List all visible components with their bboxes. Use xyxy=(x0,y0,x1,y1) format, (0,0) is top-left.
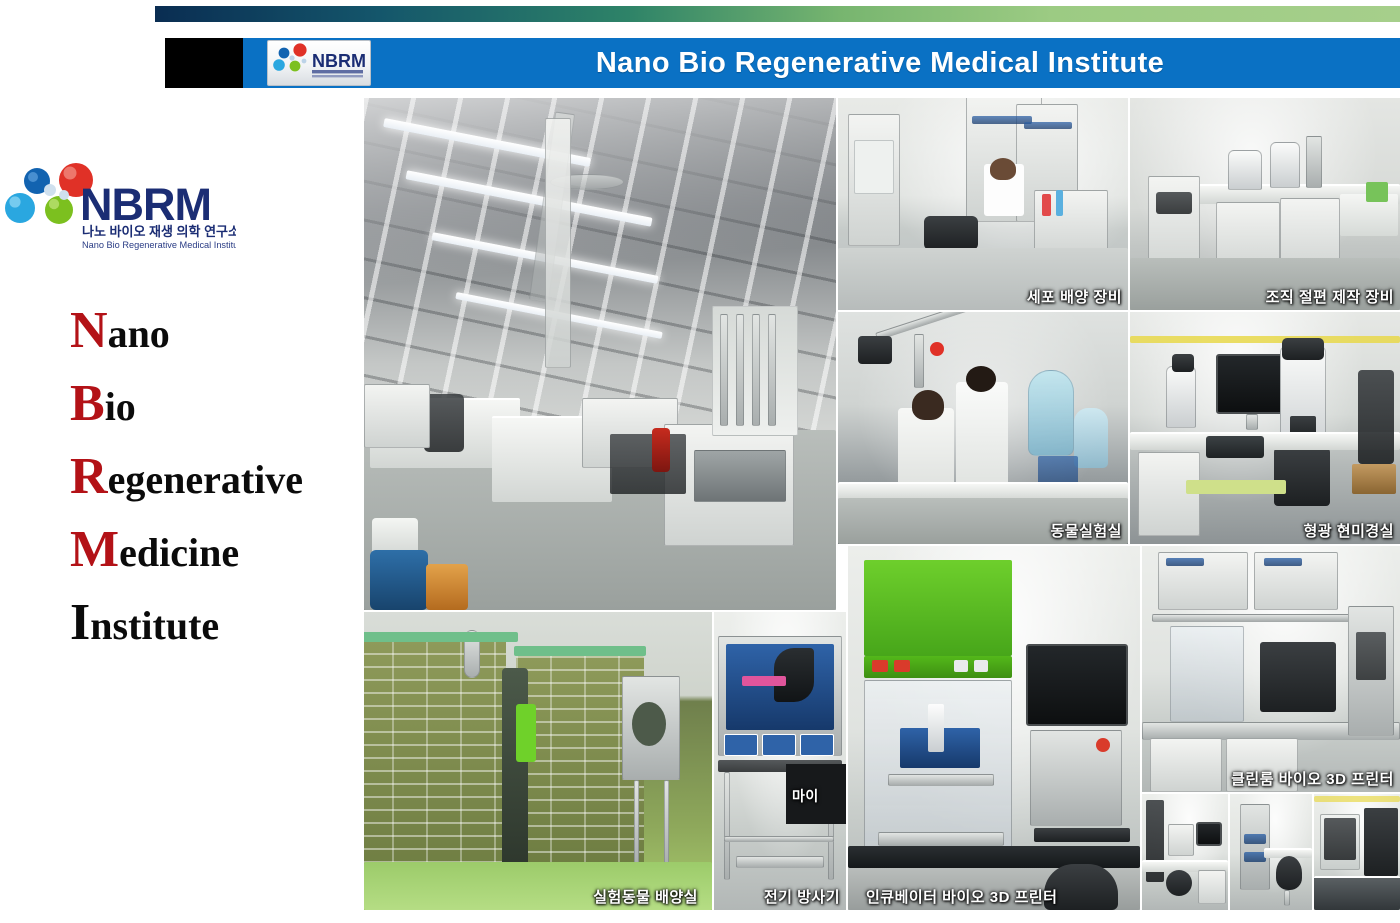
svg-text:나노 바이오 재생 의학 연구소: 나노 바이오 재생 의학 연구소 xyxy=(82,224,236,239)
svg-text:NBRM: NBRM xyxy=(80,179,211,230)
caption-incubator-bio-3d-printer: 인큐베이터 바이오 3D 프린터 xyxy=(866,886,1057,907)
acronym-line-bio: Bio xyxy=(70,378,380,430)
photo-animal-lab: 동물실험실 xyxy=(838,312,1128,544)
header-nbrm-badge-icon: NBRM xyxy=(267,40,371,86)
photo-equipment-room-a xyxy=(1142,794,1228,910)
acronym-rest-medicine: edicine xyxy=(119,530,239,575)
acronym-cap-b: B xyxy=(70,375,105,432)
caption-animal-lab: 동물실험실 xyxy=(1050,520,1122,541)
acronym-cap-n: N xyxy=(70,302,108,359)
photo-fluorescence-microscope: 형광 현미경실 xyxy=(1130,312,1400,544)
acronym-rest-institute: nstitute xyxy=(90,603,219,648)
photo-micro-partial: 마이 xyxy=(786,764,846,824)
caption-electrospinning: 전기 방사기 xyxy=(764,886,840,907)
photo-cell-culture: 세포 배양 장비 xyxy=(838,98,1128,310)
acronym-rest-regenerative: egenerative xyxy=(108,457,303,502)
header-black-block xyxy=(165,38,243,88)
photo-cleanroom-bio-3d-printer: 클린룸 바이오 3D 프린터 xyxy=(1142,546,1400,792)
acronym-line-institute: Institute xyxy=(70,597,380,649)
photo-main-lab xyxy=(364,98,836,610)
photo-collage: 세포 배양 장비 조직 절편 제작 장비 xyxy=(364,98,1400,910)
caption-cell-culture: 세포 배양 장비 xyxy=(1027,286,1122,307)
photo-equipment-room-c xyxy=(1314,794,1400,910)
slide-root: NBRM Nano Bio Regenerative Medical Insti… xyxy=(0,0,1400,923)
acronym-line-nano: Nano xyxy=(70,305,380,357)
caption-fluorescence-microscope: 형광 현미경실 xyxy=(1304,520,1394,541)
acronym-line-medicine: Medicine xyxy=(70,524,380,576)
caption-micro-partial: 마이 xyxy=(792,786,819,806)
acronym-rest-bio: io xyxy=(105,384,136,429)
photo-electrospinning: 전기 방사기 xyxy=(714,612,846,910)
acronym-rest-nano: ano xyxy=(108,311,170,356)
acronym-cap-m: M xyxy=(70,521,119,578)
acronym-line-regenerative: Regenerative xyxy=(70,451,380,503)
nbrm-logo-svg: NBRM 나노 바이오 재생 의학 연구소 Nano Bio Regenerat… xyxy=(4,148,236,256)
page-title: Nano Bio Regenerative Medical Institute xyxy=(400,38,1360,88)
acronym-cap-r: R xyxy=(70,448,108,505)
svg-text:Nano Bio Regenerative Medical: Nano Bio Regenerative Medical Institute xyxy=(82,240,236,250)
photo-animal-breeding-room: 실험동물 배양실 xyxy=(364,612,712,910)
nbrm-logo: NBRM 나노 바이오 재생 의학 연구소 Nano Bio Regenerat… xyxy=(4,148,236,256)
acronym-cap-i: I xyxy=(70,594,90,651)
top-gradient-bar xyxy=(155,6,1400,22)
photo-incubator-bio-3d-printer: 인큐베이터 바이오 3D 프린터 xyxy=(848,546,1140,910)
photo-tissue-section: 조직 절편 제작 장비 xyxy=(1130,98,1400,310)
caption-animal-breeding-room: 실험동물 배양실 xyxy=(593,886,698,907)
caption-cleanroom-bio-3d-printer: 클린룸 바이오 3D 프린터 xyxy=(1231,768,1394,789)
svg-text:NBRM: NBRM xyxy=(312,51,366,71)
photo-equipment-room-b xyxy=(1230,794,1312,910)
nbrm-badge-svg: NBRM xyxy=(270,43,368,83)
acronym-block: Nano Bio Regenerative Medicine Institute xyxy=(70,305,380,649)
caption-tissue-section: 조직 절편 제작 장비 xyxy=(1266,286,1394,307)
